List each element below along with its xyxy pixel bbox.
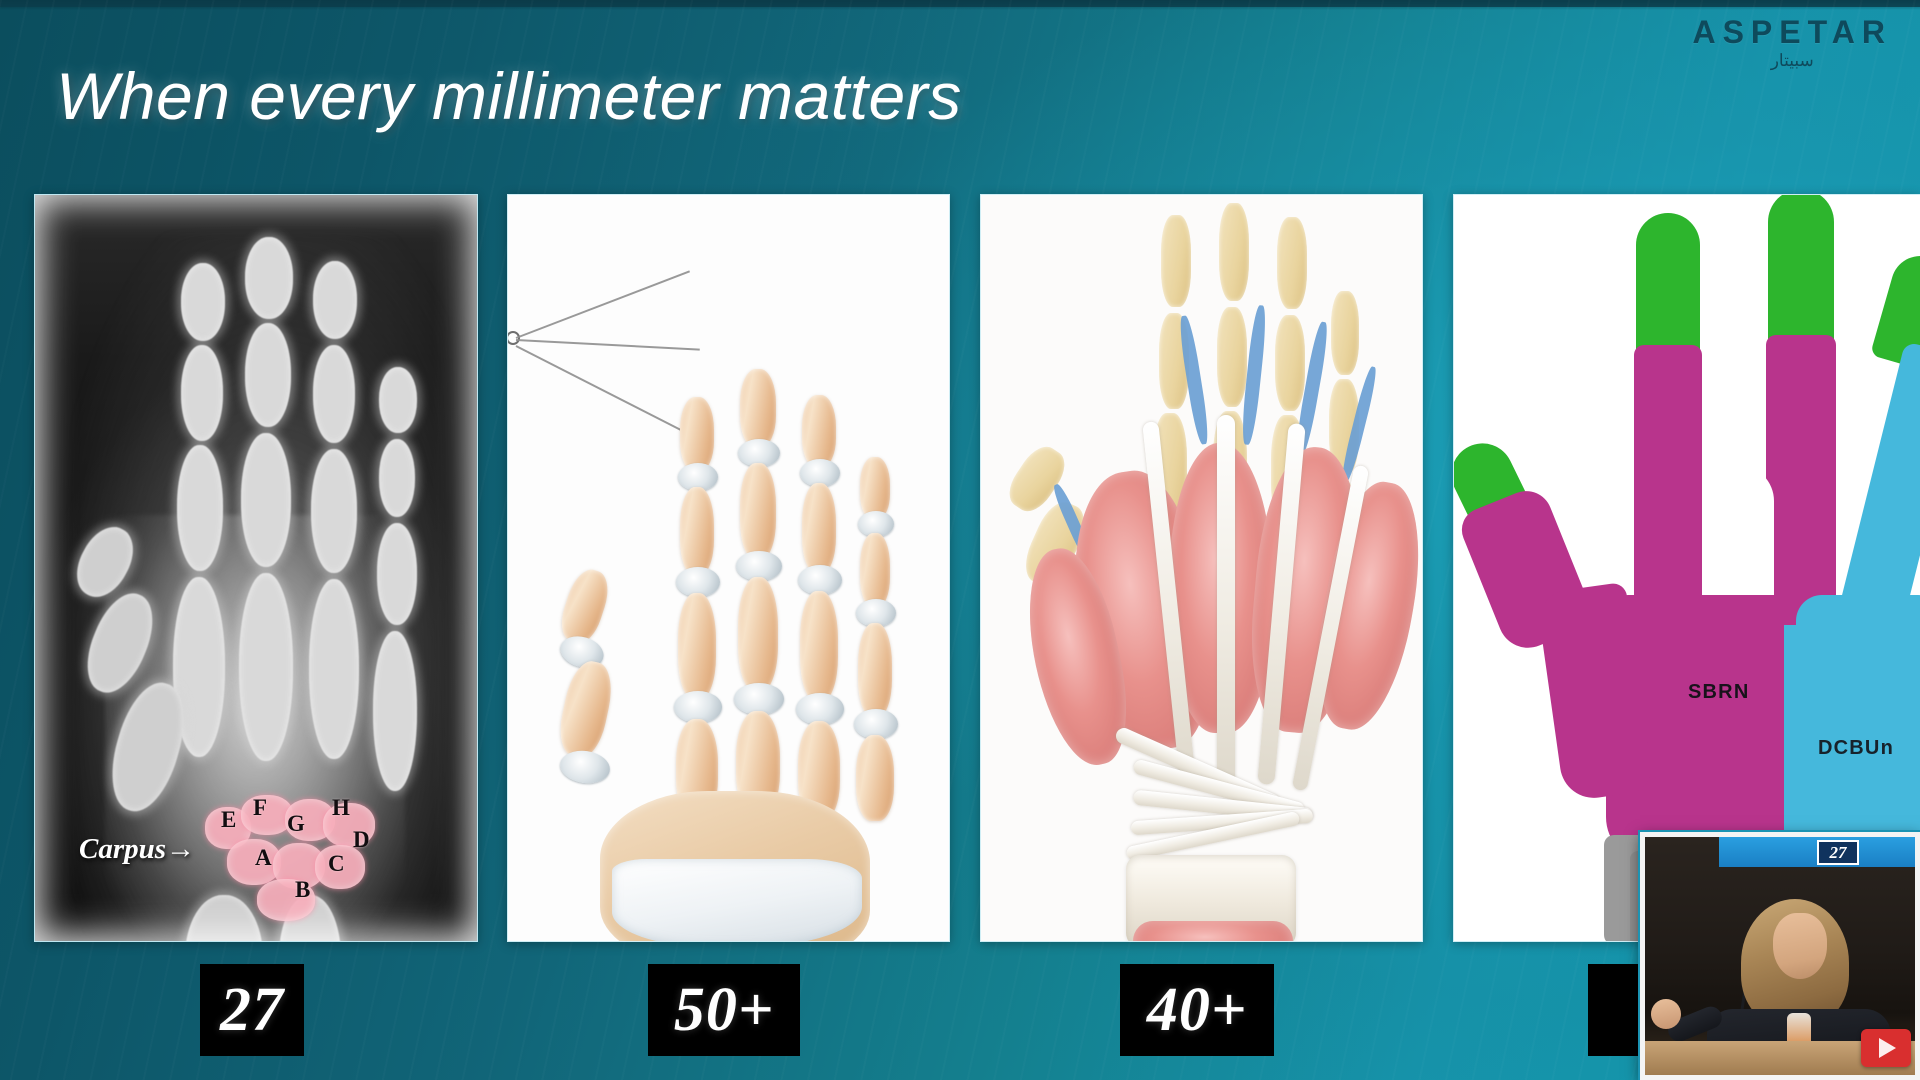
bone-middle-phalanx <box>379 439 415 517</box>
bone-metacarpal <box>309 579 359 759</box>
tendon <box>1217 415 1235 787</box>
bone-proximal-phalanx <box>377 523 417 625</box>
bone-middle-phalanx <box>680 487 714 575</box>
joint-thumb-mcp <box>558 748 612 787</box>
bone-phalanx <box>1217 307 1247 407</box>
video-slide-number-badge: 27 <box>1817 840 1859 865</box>
bone-proximal-phalanx <box>678 593 716 699</box>
top-edge-stripe <box>0 0 1920 7</box>
bone-phalanx <box>1277 217 1307 309</box>
skeleton-illustration <box>508 195 949 941</box>
bone-distal-phalanx <box>860 457 890 519</box>
carpal-letter-H: H <box>332 795 350 821</box>
bone-middle-phalanx <box>245 323 291 427</box>
panel-hand-muscles <box>980 194 1423 942</box>
carpal-letter-A: A <box>255 845 272 871</box>
bone-metacarpal <box>373 631 417 791</box>
nerve-map-illustration: SBRN DCBUn <box>1454 195 1920 941</box>
nerve-label-dcbun: DCBUn <box>1818 737 1894 760</box>
bone-thumb-proximal <box>555 657 618 760</box>
bone-proximal-phalanx <box>311 449 357 573</box>
muscle-forearm <box>1133 921 1293 942</box>
play-icon <box>1879 1038 1896 1058</box>
bone-distal-phalanx <box>313 261 357 339</box>
bone-phalanx <box>1219 203 1249 301</box>
bone-distal-phalanx <box>181 263 225 341</box>
presenter-face <box>1773 913 1827 979</box>
count-badge-27: 27 <box>200 964 304 1056</box>
panel-hand-skeleton <box>507 194 950 942</box>
bone-distal-phalanx <box>802 395 836 467</box>
bone-middle-phalanx <box>181 345 223 441</box>
play-button[interactable] <box>1861 1029 1911 1067</box>
xray-image: E F G H A B C D Carpus→ <box>35 195 477 941</box>
carpal-letter-D: D <box>353 827 370 853</box>
bone-metacarpal <box>856 735 894 821</box>
bone-distal-phalanx <box>740 369 776 447</box>
bone-phalanx <box>1331 291 1359 375</box>
panel-xray-carpus: E F G H A B C D Carpus→ <box>34 194 478 942</box>
logo-name-ar: سبيتار <box>1692 52 1892 69</box>
nerve-label-sbrn: SBRN <box>1688 681 1749 704</box>
bone-distal-phalanx <box>680 397 714 471</box>
bone-proximal-phalanx <box>241 433 291 567</box>
carpal-letter-G: G <box>287 811 305 837</box>
video-overlay-player[interactable]: 27 <box>1640 832 1920 1080</box>
bone-middle-phalanx <box>740 463 776 559</box>
bone-proximal-phalanx <box>177 445 223 571</box>
bone-metacarpal <box>239 573 293 761</box>
panel-nerve-territories: SBRN DCBUn <box>1453 194 1920 942</box>
bone-distal-phalanx <box>379 367 417 433</box>
presenter-hand <box>1651 999 1681 1029</box>
carpal-letter-F: F <box>253 795 267 821</box>
slide-title: When every millimeter matters <box>56 60 962 133</box>
carpal-letter-E: E <box>221 807 236 833</box>
bone-middle-phalanx <box>860 533 890 607</box>
muscle-illustration <box>981 195 1422 941</box>
carpal-letter-C: C <box>328 851 345 877</box>
bone-proximal-phalanx <box>738 577 778 691</box>
bone-proximal-phalanx <box>800 591 838 701</box>
bone-phalanx <box>1161 215 1191 307</box>
carpus-annotation-label: Carpus→ <box>79 833 195 866</box>
segment-green-fingertip <box>1768 194 1834 349</box>
logo-name-en: ASPETAR <box>1692 16 1892 48</box>
leader-line <box>516 339 700 351</box>
bone-proximal-phalanx <box>858 623 892 717</box>
carpal-letter-B: B <box>295 877 310 903</box>
count-badge-50plus: 50+ <box>648 964 800 1056</box>
presentation-slide: ASPETAR سبيتار When every millimeter mat… <box>0 0 1920 1080</box>
count-badge-40plus: 40+ <box>1120 964 1274 1056</box>
bone-middle-phalanx <box>313 345 355 443</box>
leader-line <box>516 345 686 433</box>
wrist-ligament <box>612 859 862 942</box>
leader-line <box>516 270 690 339</box>
segment-green-fingertip <box>1636 213 1700 363</box>
bone-middle-phalanx <box>802 483 836 573</box>
bone-thumb-distal <box>555 565 614 647</box>
bone-distal-phalanx <box>245 237 293 319</box>
aspetar-logo: ASPETAR سبيتار <box>1692 16 1892 69</box>
bone-phalanx <box>1275 315 1305 411</box>
